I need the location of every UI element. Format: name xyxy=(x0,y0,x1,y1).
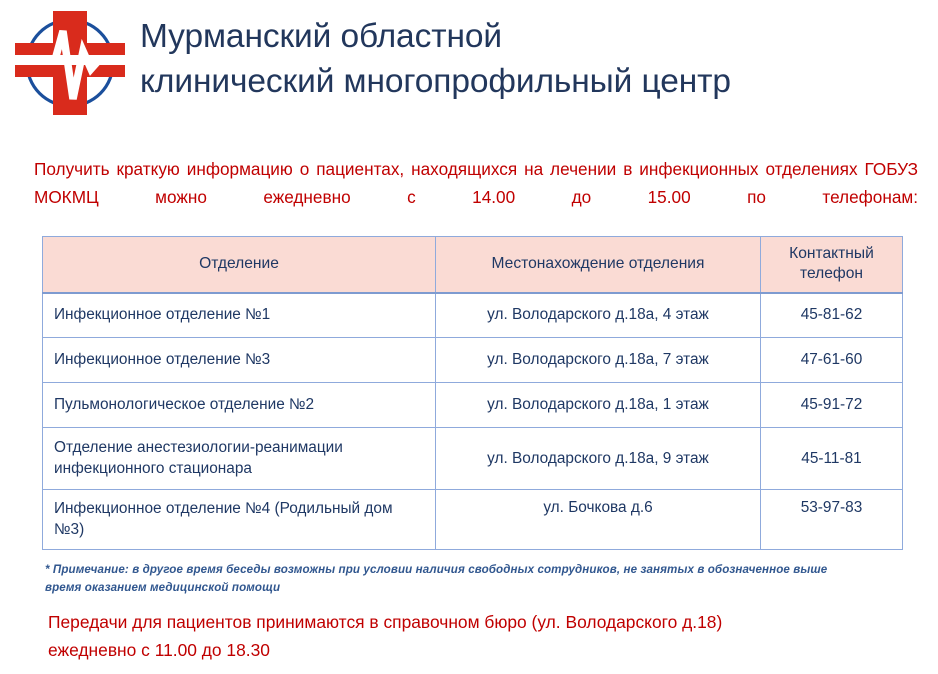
footnote-text: * Примечание: в другое время беседы возм… xyxy=(45,561,865,597)
parcel-info-paragraph: Передачи для пациентов принимаются в спр… xyxy=(48,609,928,664)
cell-location: ул. Володарского д.18а, 7 этаж xyxy=(436,338,761,383)
table-row: Пульмонологическое отделение №2 ул. Воло… xyxy=(43,383,903,428)
column-header-location: Местонахождение отделения xyxy=(436,237,761,293)
cell-department: Инфекционное отделение №1 xyxy=(43,293,436,338)
column-header-department: Отделение xyxy=(43,237,436,293)
cell-phone: 45-91-72 xyxy=(761,383,903,428)
cell-department: Инфекционное отделение №4 (Родильный дом… xyxy=(43,490,436,550)
logo-container xyxy=(0,0,140,124)
table-row: Инфекционное отделение №1 ул. Володарско… xyxy=(43,293,903,338)
cell-location: ул. Володарского д.18а, 1 этаж xyxy=(436,383,761,428)
departments-table: Отделение Местонахождение отделения Конт… xyxy=(42,236,903,550)
cell-department: Пульмонологическое отделение №2 xyxy=(43,383,436,428)
medical-cross-ecg-logo xyxy=(11,7,129,119)
page-header: Мурманский областной клинический многопр… xyxy=(0,0,938,124)
cell-location: ул. Володарского д.18а, 9 этаж xyxy=(436,428,761,490)
organization-title-line-2: клинический многопрофильный центр xyxy=(140,59,938,104)
cell-location: ул. Володарского д.18а, 4 этаж xyxy=(436,293,761,338)
cell-phone: 45-81-62 xyxy=(761,293,903,338)
organization-title-line-1: Мурманский областной xyxy=(140,14,938,59)
cell-phone: 53-97-83 xyxy=(761,490,903,550)
cell-department: Инфекционное отделение №3 xyxy=(43,338,436,383)
organization-title: Мурманский областной клинический многопр… xyxy=(140,0,938,104)
table-row: Инфекционное отделение №3 ул. Володарско… xyxy=(43,338,903,383)
cell-location: ул. Бочкова д.6 xyxy=(436,490,761,550)
table-body: Инфекционное отделение №1 ул. Володарско… xyxy=(43,293,903,550)
intro-paragraph: Получить краткую информацию о пациентах,… xyxy=(34,156,918,240)
column-header-phone: Контактный телефон xyxy=(761,237,903,293)
table-header: Отделение Местонахождение отделения Конт… xyxy=(43,237,903,293)
table-row: Отделение анестезиологии-реанимации инфе… xyxy=(43,428,903,490)
parcel-info-line-1: Передачи для пациентов принимаются в спр… xyxy=(48,609,928,637)
cell-phone: 45-11-81 xyxy=(761,428,903,490)
cell-department: Отделение анестезиологии-реанимации инфе… xyxy=(43,428,436,490)
table-header-row: Отделение Местонахождение отделения Конт… xyxy=(43,237,903,293)
cell-phone: 47-61-60 xyxy=(761,338,903,383)
parcel-info-line-2: ежедневно с 11.00 до 18.30 xyxy=(48,637,928,665)
table-row: Инфекционное отделение №4 (Родильный дом… xyxy=(43,490,903,550)
